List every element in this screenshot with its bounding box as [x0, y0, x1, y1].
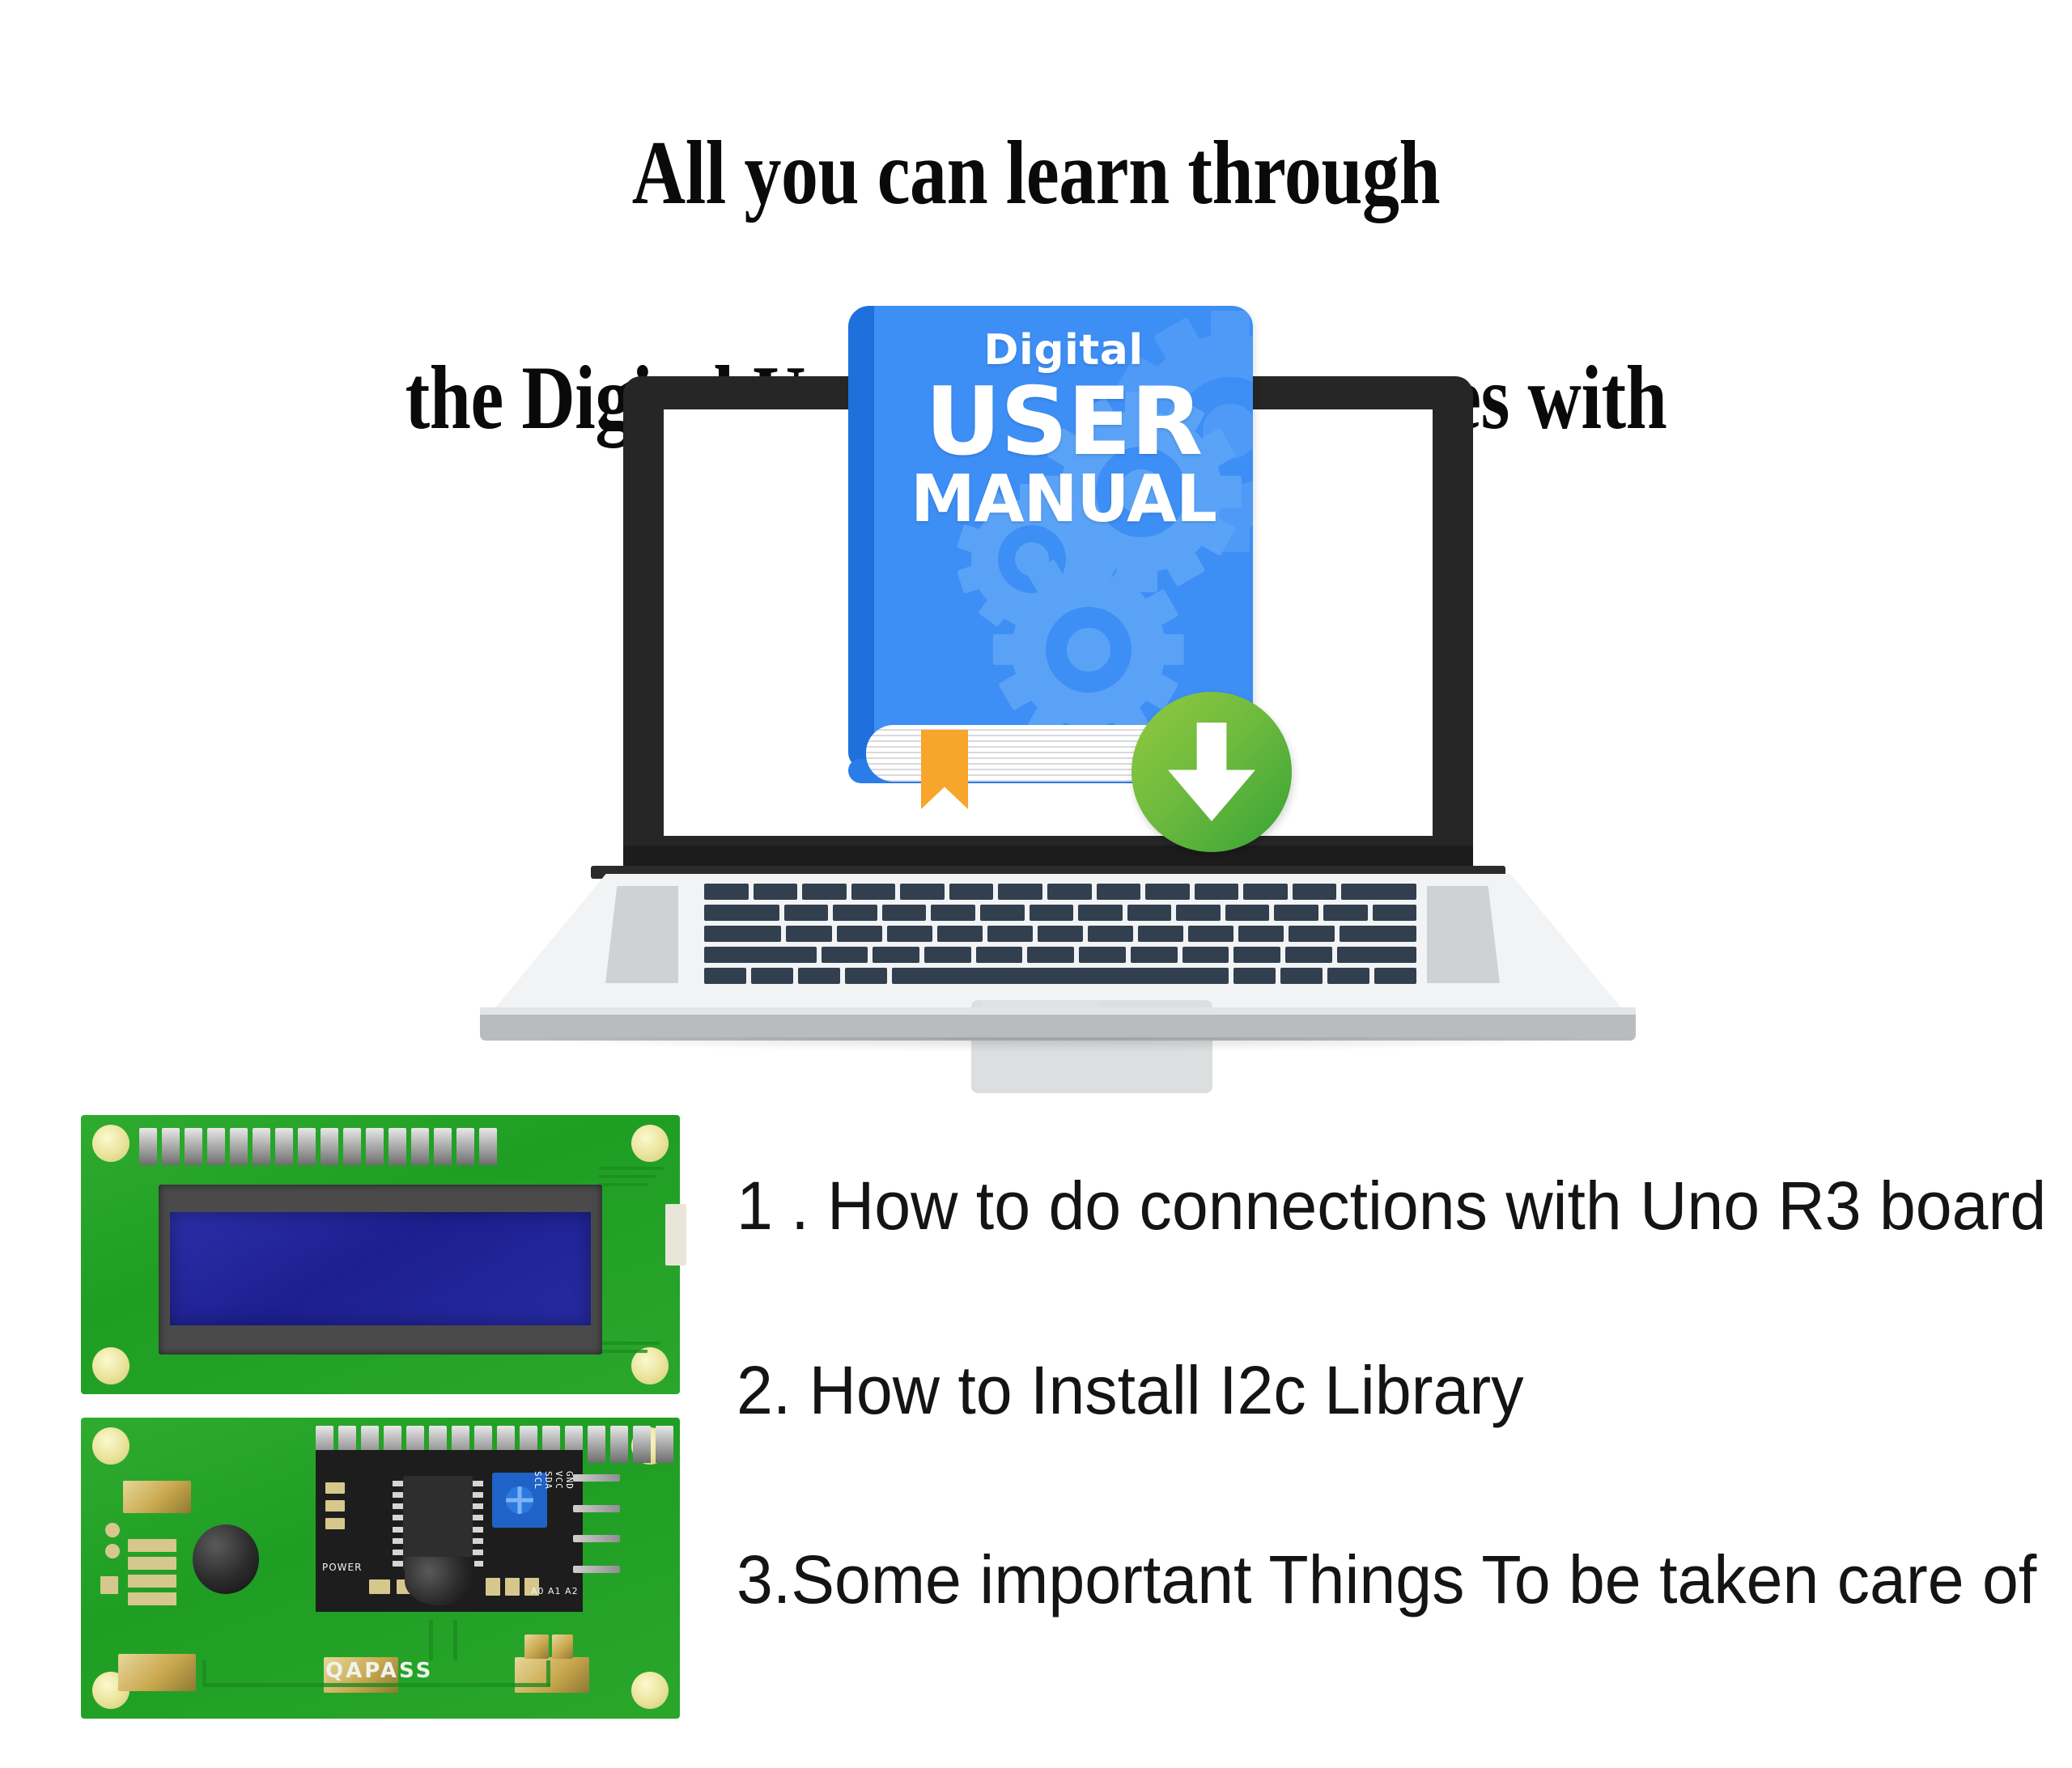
- lcd-module-back-i2c: GND VCC SDA SCL QAPASS POWER A0 A1 A2: [81, 1418, 680, 1719]
- lcd-bezel: [159, 1185, 602, 1355]
- gear-icon: [1012, 573, 1165, 727]
- solder-pad: [552, 1634, 573, 1659]
- book-title: Digital USER MANUAL: [874, 329, 1253, 531]
- mounting-hole: [92, 1125, 129, 1162]
- laptop-speaker-left: [605, 886, 678, 983]
- book-title-digital: Digital: [874, 329, 1253, 373]
- laptop-bottom-edge: [480, 1013, 1636, 1041]
- laptop-speaker-right: [1427, 886, 1500, 983]
- pin-header: [139, 1128, 497, 1165]
- solder-pad: [515, 1657, 589, 1693]
- silkscreen-power: POWER: [322, 1562, 362, 1573]
- i2c-pin-labels: GND VCC SDA SCL: [533, 1471, 575, 1576]
- list-item: 2. How to Install I2c Library: [737, 1356, 2010, 1424]
- book-title-manual: MANUAL: [874, 468, 1253, 531]
- solder-pad: [123, 1481, 191, 1513]
- book-cover: Digital USER MANUAL: [874, 306, 1253, 759]
- lcd-screen: [170, 1212, 591, 1325]
- solder-pad: [524, 1634, 549, 1659]
- electrolytic-capacitor: [193, 1524, 259, 1594]
- laptop-keyboard: [704, 884, 1416, 987]
- download-badge[interactable]: [1132, 692, 1292, 852]
- silkscreen-brand: QAPASS: [325, 1659, 433, 1683]
- book-title-user: USER: [874, 378, 1253, 466]
- mounting-hole: [92, 1347, 129, 1384]
- pin-label-scl: SCL: [533, 1471, 543, 1576]
- solder-pad: [118, 1654, 196, 1691]
- i2c-output-pins: [573, 1474, 620, 1573]
- list-item: 3.Some important Things To be taken care…: [737, 1545, 2010, 1613]
- list-item: 1 . How to do connections with Uno R3 bo…: [737, 1172, 2010, 1240]
- download-arrow-icon: [1168, 723, 1255, 821]
- lcd-module-front: [81, 1115, 680, 1394]
- pin-label-sda: SDA: [543, 1471, 554, 1576]
- pin-label-vcc: VCC: [554, 1471, 564, 1576]
- mounting-hole: [92, 1427, 129, 1465]
- feature-list: 1 . How to do connections with Uno R3 bo…: [737, 1172, 2064, 1613]
- laptop-shadow: [494, 1037, 1623, 1052]
- page-title-line-1: All you can learn through: [186, 117, 1885, 230]
- silkscreen-address: A0 A1 A2: [531, 1586, 579, 1596]
- mounting-hole: [631, 1125, 669, 1162]
- mounting-hole: [631, 1672, 669, 1709]
- lcd-side-tab: [665, 1204, 686, 1266]
- electrolytic-capacitor: [405, 1557, 474, 1605]
